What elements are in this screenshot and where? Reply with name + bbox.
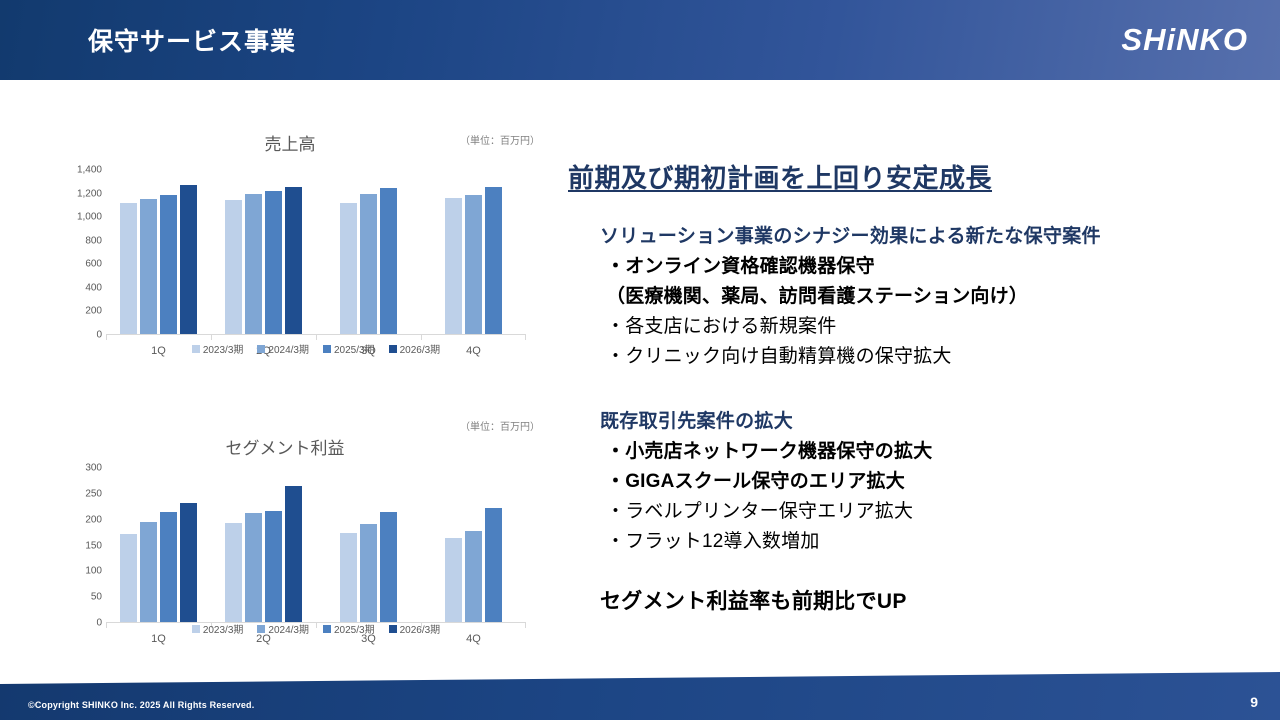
content-column: 前期及び期初計画を上回り安定成長 ソリューション事業のシナジー効果による新たな保… [568, 158, 1268, 615]
chart-group: 4Q [421, 468, 526, 623]
chart-profit-y-axis: 300250200150100500 [60, 468, 102, 623]
section-synergy: ソリューション事業のシナジー効果による新たな保守案件 ・オンライン資格確認機器保… [568, 221, 1268, 368]
section-existing: 既存取引先案件の拡大 ・小売店ネットワーク機器保守の拡大・GIGAスクール保守の… [568, 406, 1268, 553]
chart-sales-axis-line [106, 334, 526, 335]
chart-bar [225, 523, 242, 623]
axis-tick-label: 600 [85, 259, 102, 270]
axis-tick-mark [106, 335, 107, 340]
chart-bar [485, 187, 502, 335]
legend-swatch [257, 625, 265, 633]
chart-group: 3Q [316, 468, 421, 623]
legend-item: 2023/3期 [192, 621, 244, 636]
chart-bar [245, 194, 262, 335]
chart-bar [160, 195, 177, 335]
chart-bar [120, 203, 137, 335]
chart-sales-groups: 1Q2Q3Q4Q [106, 170, 526, 335]
chart-bar [340, 533, 357, 623]
bullet-item: ・各支店における新規案件 [606, 311, 1268, 338]
legend-label: 2023/3期 [203, 621, 244, 636]
chart-group: 1Q [106, 170, 211, 335]
axis-tick-mark [211, 335, 212, 340]
page-number: 9 [1250, 694, 1258, 710]
chart-group: 1Q [106, 468, 211, 623]
chart-group: 2Q [211, 170, 316, 335]
axis-tick-label: 200 [85, 514, 102, 525]
legend-swatch [389, 625, 397, 633]
chart-bar [380, 188, 397, 335]
chart-bar [360, 524, 377, 623]
bullet-item: ・GIGAスクール保守のエリア拡大 [606, 466, 1268, 493]
content-headline: 前期及び期初計画を上回り安定成長 [568, 158, 1268, 195]
section-existing-items: ・小売店ネットワーク機器保守の拡大・GIGAスクール保守のエリア拡大・ラベルプリ… [568, 436, 1268, 553]
axis-tick-label: 100 [85, 566, 102, 577]
axis-tick-label: 50 [91, 592, 102, 603]
chart-sales: 売上高 （単位：百万円） 1,4001,2001,000800600400200… [60, 128, 540, 363]
axis-tick-label: 800 [85, 235, 102, 246]
chart-sales-y-axis: 1,4001,2001,0008006004002000 [60, 170, 102, 335]
axis-tick-mark [421, 335, 422, 340]
chart-sales-legend: 2023/3期2024/3期2025/3期2026/3期 [106, 341, 526, 356]
chart-profit-unit-note: （単位：百万円） [460, 418, 540, 433]
chart-sales-plot: 1,4001,2001,0008006004002000 1Q2Q3Q4Q [106, 170, 526, 335]
chart-bar [380, 512, 397, 623]
legend-label: 2025/3期 [334, 621, 375, 636]
chart-bar [180, 503, 197, 623]
chart-sales-unit-note: （単位：百万円） [460, 132, 540, 147]
page-title: 保守サービス事業 [88, 22, 296, 58]
chart-bar [160, 512, 177, 623]
bullet-item: ・クリニック向け自動精算機の保守拡大 [606, 341, 1268, 368]
axis-tick-mark [525, 335, 526, 340]
bullet-item: ・フラット12導入数増加 [606, 526, 1268, 553]
axis-tick-label: 400 [85, 282, 102, 293]
axis-tick-label: 1,000 [77, 212, 102, 223]
chart-bar [445, 538, 462, 623]
legend-item: 2024/3期 [257, 341, 309, 356]
legend-item: 2026/3期 [389, 621, 441, 636]
chart-profit-legend: 2023/3期2024/3期2025/3期2026/3期 [106, 621, 526, 636]
section-synergy-heading: ソリューション事業のシナジー効果による新たな保守案件 [600, 221, 1268, 248]
axis-tick-label: 150 [85, 540, 102, 551]
chart-bar [265, 511, 282, 623]
axis-tick-mark [316, 335, 317, 340]
slide-footer [0, 672, 1280, 720]
copyright-text: ©Copyright SHINKO Inc. 2025 All Rights R… [28, 700, 254, 710]
bullet-item: ・小売店ネットワーク機器保守の拡大 [606, 436, 1268, 463]
chart-bar [465, 195, 482, 335]
section-synergy-items: ・オンライン資格確認機器保守（医療機関、薬局、訪問看護ステーション向け）・各支店… [568, 251, 1268, 368]
legend-label: 2026/3期 [400, 621, 441, 636]
legend-item: 2025/3期 [323, 341, 375, 356]
legend-label: 2026/3期 [400, 341, 441, 356]
chart-bar [445, 198, 462, 335]
slide-header: 保守サービス事業 SHiNKO [0, 0, 1280, 80]
chart-profit: セグメント利益 （単位：百万円） 300250200150100500 1Q2Q… [60, 418, 540, 663]
bullet-item: ・オンライン資格確認機器保守 [606, 251, 1268, 278]
chart-bar [465, 531, 482, 623]
legend-swatch [389, 345, 397, 353]
axis-tick-label: 200 [85, 306, 102, 317]
legend-label: 2025/3期 [334, 341, 375, 356]
legend-swatch [192, 625, 200, 633]
legend-item: 2025/3期 [323, 621, 375, 636]
chart-group: 3Q [316, 170, 421, 335]
chart-profit-title: セグメント利益 [30, 434, 540, 459]
chart-bar [180, 185, 197, 335]
legend-label: 2024/3期 [268, 621, 309, 636]
axis-tick-label: 1,200 [77, 188, 102, 199]
content-closing: セグメント利益率も前期比でUP [600, 585, 1268, 615]
chart-profit-groups: 1Q2Q3Q4Q [106, 468, 526, 623]
chart-bar [485, 508, 502, 623]
legend-swatch [323, 345, 331, 353]
chart-group: 4Q [421, 170, 526, 335]
legend-swatch [323, 625, 331, 633]
chart-profit-plot: 300250200150100500 1Q2Q3Q4Q [106, 468, 526, 623]
chart-bar [225, 200, 242, 335]
legend-item: 2023/3期 [192, 341, 244, 356]
chart-bar [120, 534, 137, 623]
section-existing-heading: 既存取引先案件の拡大 [600, 406, 1268, 433]
chart-bar [265, 191, 282, 335]
axis-tick-label: 1,400 [77, 165, 102, 176]
chart-bar [140, 199, 157, 335]
axis-tick-label: 0 [96, 330, 102, 341]
legend-item: 2026/3期 [389, 341, 441, 356]
bullet-item: （医療機関、薬局、訪問看護ステーション向け） [606, 281, 1268, 308]
chart-group: 2Q [211, 468, 316, 623]
chart-bar [360, 194, 377, 335]
legend-swatch [192, 345, 200, 353]
legend-item: 2024/3期 [257, 621, 309, 636]
chart-bar [285, 187, 302, 336]
chart-bar [245, 513, 262, 623]
chart-bar [340, 203, 357, 335]
legend-swatch [257, 345, 265, 353]
bullet-item: ・ラベルプリンター保守エリア拡大 [606, 496, 1268, 523]
axis-tick-label: 0 [96, 618, 102, 629]
legend-label: 2024/3期 [268, 341, 309, 356]
chart-bar [285, 486, 302, 623]
legend-label: 2023/3期 [203, 341, 244, 356]
shinko-logo: SHiNKO [1121, 22, 1248, 58]
axis-tick-label: 250 [85, 488, 102, 499]
axis-tick-label: 300 [85, 463, 102, 474]
chart-bar [140, 522, 157, 623]
